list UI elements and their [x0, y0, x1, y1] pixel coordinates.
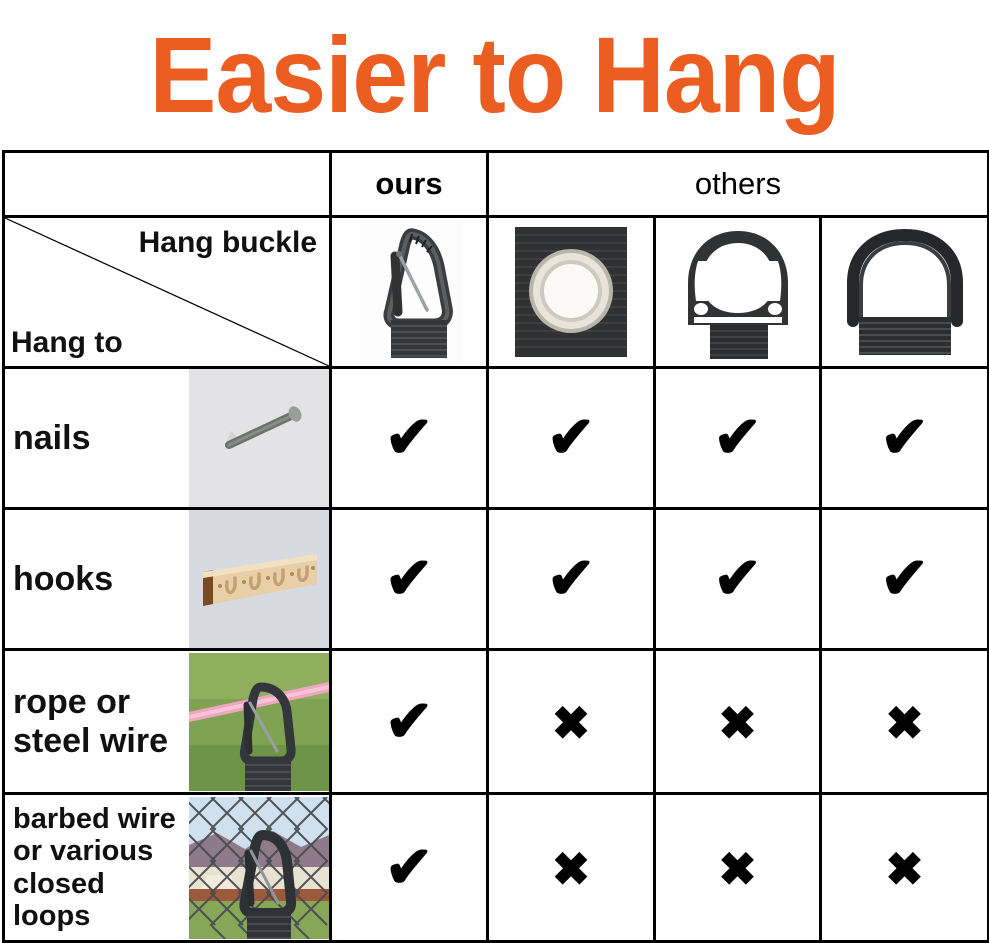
check-icon: ✔ [385, 689, 434, 754]
mark-other1-rope: ✖ [488, 650, 655, 794]
mark-other2-nails: ✔ [655, 368, 821, 509]
mark-other1-hooks: ✔ [488, 509, 655, 650]
page-title: Easier to Hang [35, 0, 955, 150]
row-label-barbed: barbed wire or various closed loops [5, 797, 189, 939]
mark-other3-rope: ✖ [821, 650, 989, 794]
mark-other2-rope: ✖ [655, 650, 821, 794]
hook-on-chainlink-fence-icon [189, 797, 329, 939]
mark-other3-barbed: ✖ [821, 794, 989, 942]
mark-ours-hooks: ✔ [331, 509, 488, 650]
check-icon: ✔ [713, 405, 762, 470]
mark-other3-nails: ✔ [821, 368, 989, 509]
mark-other1-barbed: ✖ [488, 794, 655, 942]
row-label-cell-hooks: hooks [4, 509, 331, 650]
cross-icon: ✖ [885, 697, 924, 749]
table-row: nails ✔ ✔ ✔ ✔ [4, 368, 989, 509]
wooden-hook-rail-icon [189, 510, 329, 648]
mark-other2-barbed: ✖ [655, 794, 821, 942]
hook-on-pink-rope-icon [189, 653, 329, 791]
plain-d-ring-icon [833, 219, 977, 365]
row-label-cell-rope: rope or steel wire [4, 650, 331, 794]
header-ours-label: ours [331, 152, 488, 217]
plastic-slotted-d-ring-icon [666, 219, 810, 365]
header-ours-buckle-cell [331, 217, 488, 368]
check-icon: ✔ [547, 546, 596, 611]
row-label-barbed-line2: or various [13, 835, 153, 867]
mark-ours-nails: ✔ [331, 368, 488, 509]
ours-carabiner-hook-icon [354, 219, 464, 365]
mark-other3-hooks: ✔ [821, 509, 989, 650]
diagonal-corner-cell: Hang buckle Hang to [4, 217, 331, 368]
table-buckle-row: Hang buckle Hang to [4, 217, 989, 368]
check-icon: ✔ [880, 405, 929, 470]
cross-icon: ✖ [552, 697, 591, 749]
check-icon: ✔ [547, 405, 596, 470]
check-icon: ✔ [880, 546, 929, 611]
mark-other1-nails: ✔ [488, 368, 655, 509]
cross-icon: ✖ [718, 843, 757, 895]
row-label-hooks: hooks [5, 510, 189, 648]
check-icon: ✔ [385, 405, 434, 470]
row-label-nails: nails [5, 369, 189, 507]
comparison-table: ours others Hang buckle Hang to [2, 150, 989, 943]
corner-label-hang-to: Hang to [11, 326, 123, 360]
check-icon: ✔ [385, 835, 434, 900]
row-label-barbed-line1: barbed wire [13, 803, 176, 835]
mark-other2-hooks: ✔ [655, 509, 821, 650]
header-blank-cell [4, 152, 331, 217]
header-other-buckle-cell-2 [655, 217, 821, 368]
row-label-rope-line2: steel wire [13, 722, 168, 760]
table-row: rope or steel wire [4, 650, 989, 794]
table-row: barbed wire or various closed loops [4, 794, 989, 942]
header-other-buckle-cell-3 [821, 217, 989, 368]
check-icon: ✔ [713, 546, 762, 611]
row-label-rope: rope or steel wire [5, 653, 189, 791]
check-icon: ✔ [385, 546, 434, 611]
cross-icon: ✖ [885, 843, 924, 895]
cross-icon: ✖ [718, 697, 757, 749]
table-header-row: ours others [4, 152, 989, 217]
row-label-cell-barbed: barbed wire or various closed loops [4, 794, 331, 942]
mark-ours-barbed: ✔ [331, 794, 488, 942]
table-row: hooks [4, 509, 989, 650]
mark-ours-rope: ✔ [331, 650, 488, 794]
corner-label-hang-buckle: Hang buckle [139, 226, 317, 260]
header-others-label: others [488, 152, 989, 217]
cross-icon: ✖ [552, 843, 591, 895]
row-label-cell-nails: nails [4, 368, 331, 509]
nail-in-wall-icon [189, 369, 329, 507]
metal-grommet-on-webbing-icon [499, 219, 643, 365]
header-other-buckle-cell-1 [488, 217, 655, 368]
row-label-barbed-line3: closed loops [13, 868, 105, 932]
row-label-rope-line1: rope or [13, 683, 130, 721]
